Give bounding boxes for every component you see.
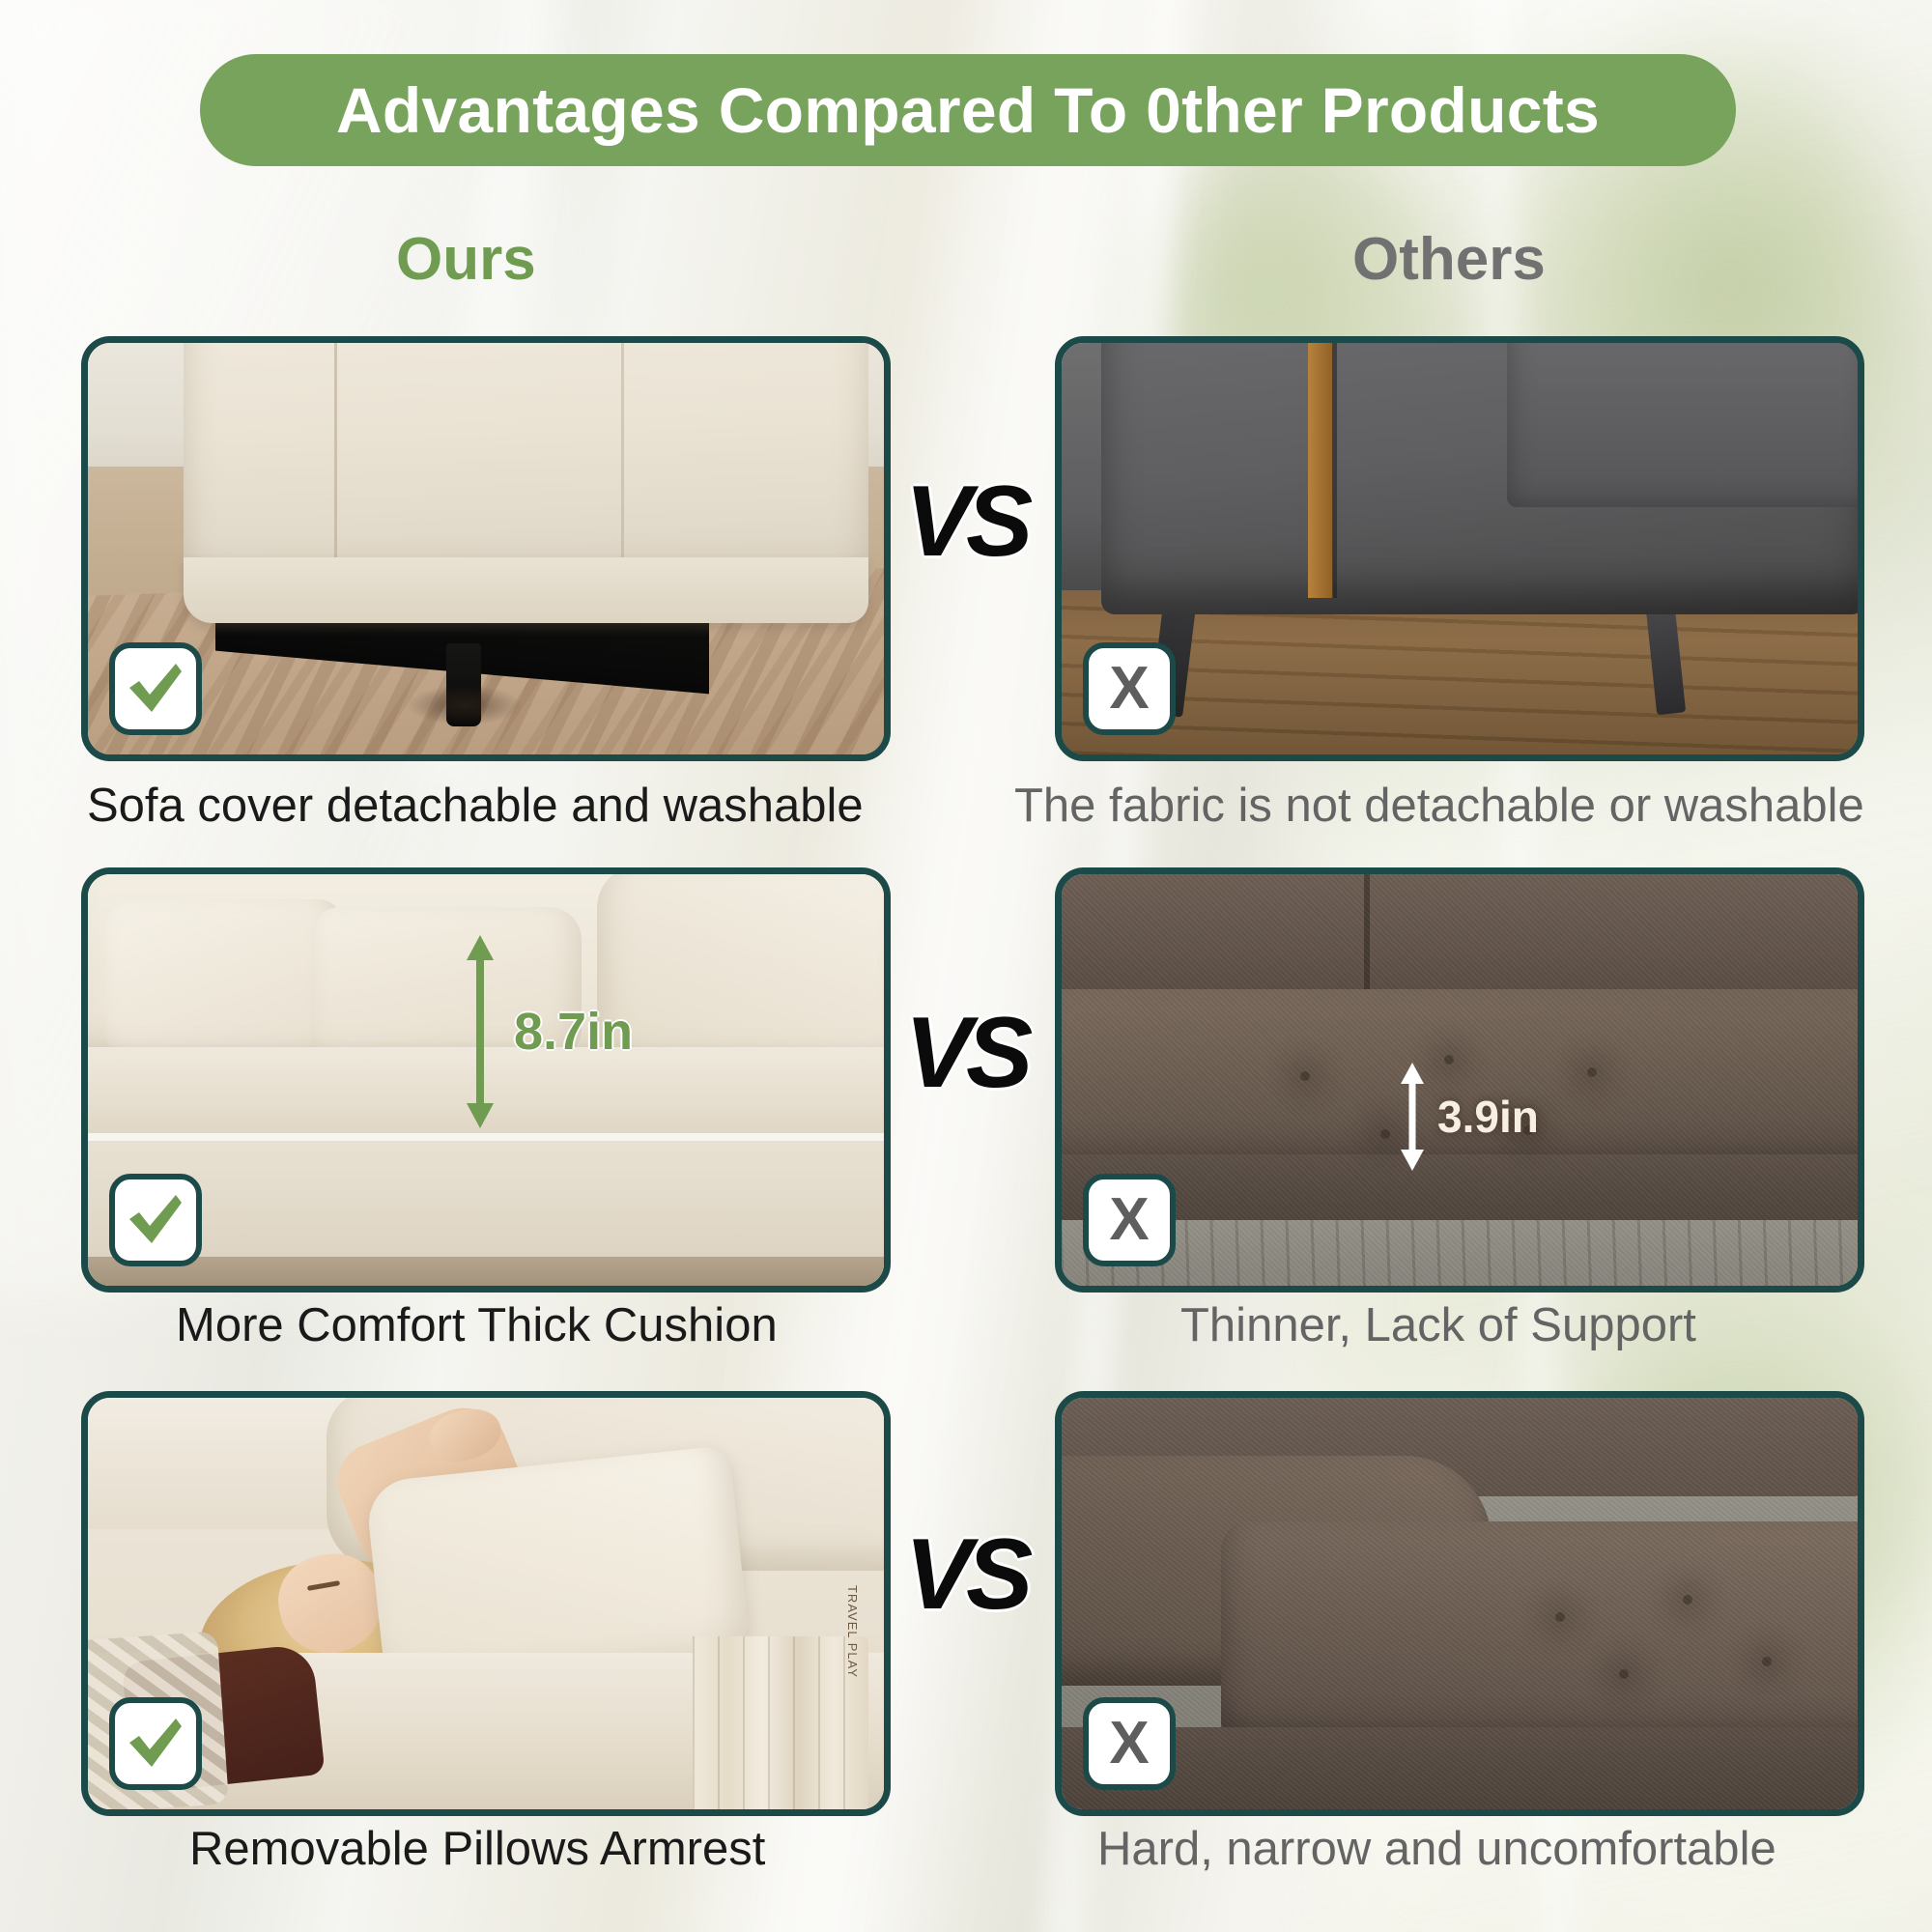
- scene-floor: [88, 1257, 884, 1293]
- check-icon: [126, 1193, 185, 1247]
- double-arrow-icon: [464, 935, 497, 1128]
- column-heading-others: Others: [1352, 230, 1546, 290]
- sofa-cushion: [1507, 336, 1864, 507]
- status-badge-check: [109, 1174, 202, 1266]
- sofa-armrest: [597, 867, 891, 1071]
- caption-ours-row-3: Removable Pillows Armrest: [189, 1826, 765, 1873]
- book-spine-label: TRAVEL PLAY: [845, 1585, 860, 1678]
- check-icon: [126, 662, 185, 716]
- caption-ours-row-1: Sofa cover detachable and washable: [87, 782, 864, 830]
- vs-divider-row-3: VS: [869, 1524, 1063, 1625]
- sofa-leg-shadow: [407, 685, 523, 725]
- x-icon: X: [1109, 1190, 1149, 1250]
- page-title: Advantages Compared To 0ther Products: [336, 78, 1600, 142]
- vs-label: VS: [905, 466, 1028, 578]
- measurement-callout-others: 3.9in: [1399, 1063, 1539, 1171]
- photo-content-others-row-3: [1062, 1398, 1858, 1809]
- check-icon: [126, 1717, 185, 1771]
- status-badge-x: X: [1083, 1697, 1176, 1790]
- caption-others-row-1: The fabric is not detachable or washable: [1014, 782, 1864, 830]
- photo-content-ours-row-1: [88, 343, 884, 754]
- vs-divider-row-1: VS: [869, 471, 1063, 572]
- measurement-value-ours: 8.7in: [514, 1006, 633, 1058]
- status-badge-check: [109, 642, 202, 735]
- photo-ours-row-3: TRAVEL PLAY: [81, 1391, 891, 1816]
- back-pillow-left: [103, 899, 342, 1064]
- caption-others-row-3: Hard, narrow and uncomfortable: [1097, 1826, 1776, 1873]
- fabric-texture: [1062, 1398, 1858, 1809]
- caption-ours-row-2: More Comfort Thick Cushion: [176, 1302, 778, 1350]
- measurement-callout-ours: 8.7in: [464, 935, 633, 1128]
- status-badge-x: X: [1083, 1174, 1176, 1266]
- comparison-infographic: Advantages Compared To 0ther Products Ou…: [0, 0, 1932, 1932]
- sofa-slipcover-hem: [184, 557, 868, 623]
- vs-divider-row-2: VS: [869, 1003, 1063, 1103]
- double-arrow-icon: [1399, 1063, 1426, 1171]
- column-heading-ours: Ours: [396, 230, 536, 290]
- photo-ours-row-1: [81, 336, 891, 761]
- photo-others-row-1: X: [1055, 336, 1864, 761]
- photo-others-row-3: X: [1055, 1391, 1864, 1816]
- status-badge-check: [109, 1697, 202, 1790]
- x-icon: X: [1109, 659, 1149, 719]
- sofa-seam: [1332, 336, 1337, 598]
- caption-others-row-2: Thinner, Lack of Support: [1180, 1302, 1696, 1350]
- photo-content-ours-row-3: TRAVEL PLAY: [88, 1398, 884, 1809]
- title-banner: Advantages Compared To 0ther Products: [200, 54, 1736, 166]
- vs-label: VS: [905, 997, 1028, 1109]
- bookshelf: [693, 1636, 867, 1816]
- measurement-value-others: 3.9in: [1437, 1094, 1539, 1139]
- status-badge-x: X: [1083, 642, 1176, 735]
- x-icon: X: [1109, 1714, 1149, 1774]
- photo-content-others-row-1: [1062, 343, 1858, 754]
- vs-label: VS: [905, 1519, 1028, 1631]
- sofa-wood-trim: [1308, 336, 1333, 598]
